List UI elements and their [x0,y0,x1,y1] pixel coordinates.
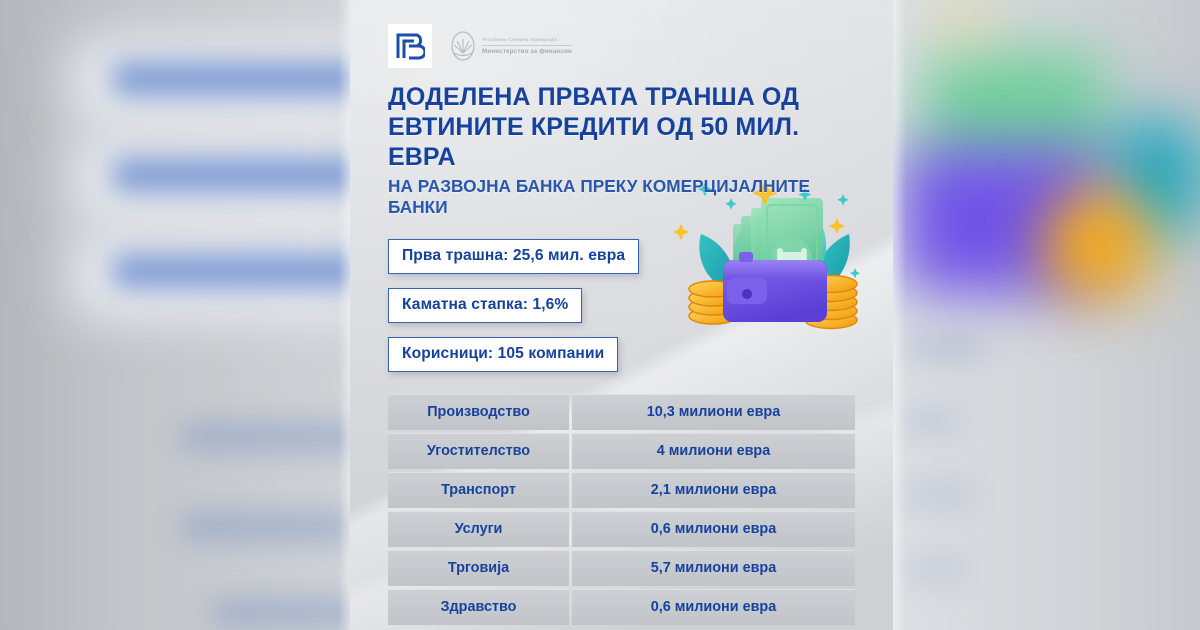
poster-canvas: Република Северна Македонија Министерств… [0,0,1200,630]
poster-card: Република Северна Македонија Министерств… [350,0,893,630]
backdrop-left-blur [0,0,360,630]
razvojna-banka-logo [388,24,432,68]
headline-block: ДОДЕЛЕНА ПРВАТА ТРАНША ОД ЕВТИНИТЕ КРЕДИ… [388,82,855,217]
table-row: Здравство 0,6 милиони евра [388,589,855,625]
table-cell-amount: 0,6 милиони евра [572,589,855,625]
table-cell-sector: Угостителство [388,433,569,469]
headline-subtitle: НА РАЗВОЈНА БАНКА ПРЕКУ КОМЕРЦИЈАЛНИТЕ Б… [388,176,855,217]
sector-allocation-table: Производство 10,3 милиони евра Угостител… [388,394,855,625]
table-row: Трговија 5,7 милиони евра [388,550,855,586]
badge-first-tranche: Прва трашна: 25,6 мил. евра [388,239,639,274]
ministry-logo-line2: Министерство за финансии [482,48,572,55]
headline-line-2: ЕВТИНИТЕ КРЕДИТИ ОД 50 МИЛ. ЕВРА [388,112,855,172]
table-cell-sector: Транспорт [388,472,569,508]
badge-beneficiaries: Корисници: 105 компании [388,337,618,372]
table-cell-sector: Здравство [388,589,569,625]
table-row: Производство 10,3 милиони евра [388,394,855,430]
headline-line-1: ДОДЕЛЕНА ПРВАТА ТРАНША ОД [388,82,855,112]
ministry-of-finance-logo: Република Северна Македонија Министерств… [450,31,572,61]
table-cell-sector: Производство [388,394,569,430]
backdrop-right-blur [893,0,1200,630]
table-row: Угостителство 4 милиони евра [388,433,855,469]
table-cell-amount: 10,3 милиони евра [572,394,855,430]
table-cell-amount: 5,7 милиони евра [572,550,855,586]
ministry-logo-rule [482,45,572,46]
badge-interest-rate: Каматна стапка: 1,6% [388,288,582,323]
table-cell-amount: 4 милиони евра [572,433,855,469]
table-cell-amount: 2,1 милиони евра [572,472,855,508]
table-row: Услуги 0,6 милиони евра [388,511,855,547]
table-cell-sector: Трговија [388,550,569,586]
ministry-logo-line1: Република Северна Македонија [482,37,572,43]
table-cell-sector: Услуги [388,511,569,547]
macedonia-crest-icon [450,31,476,61]
key-figures-list: Прва трашна: 25,6 мил. евра Каматна стап… [388,239,855,372]
table-cell-amount: 0,6 милиони евра [572,511,855,547]
logo-row: Република Северна Македонија Министерств… [388,0,855,58]
table-row: Транспорт 2,1 милиони евра [388,472,855,508]
